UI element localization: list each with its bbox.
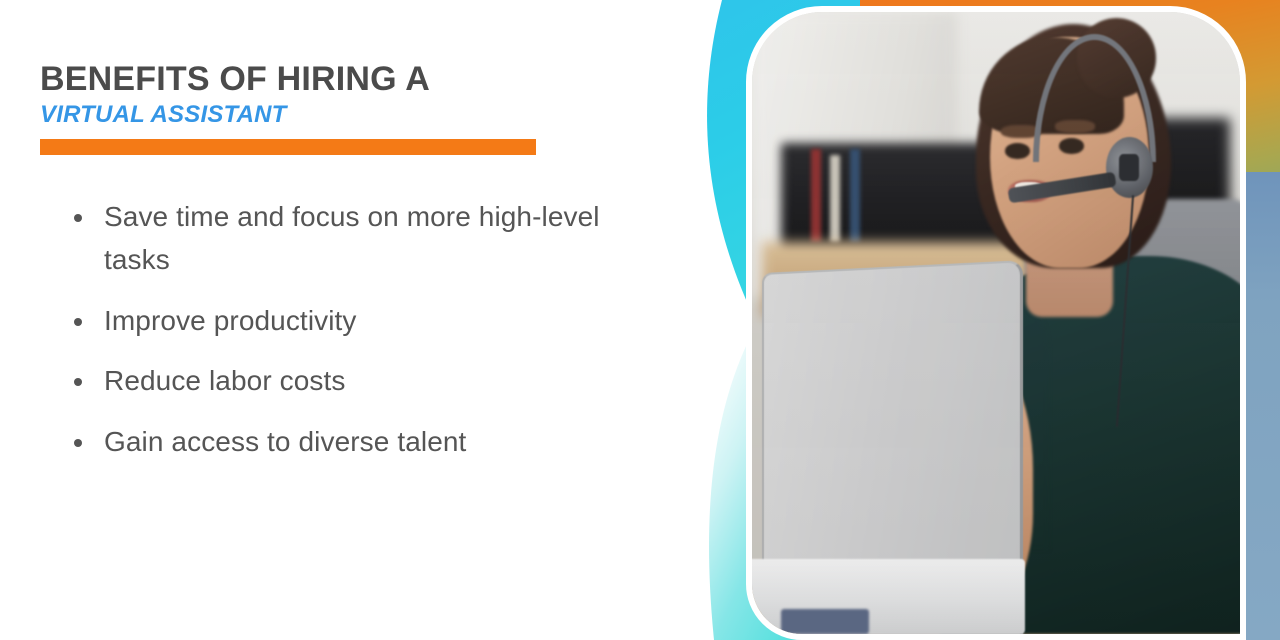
heading-block: BENEFITS OF HIRING A VIRTUAL ASSISTANT xyxy=(40,60,600,130)
photo-book xyxy=(850,149,860,242)
hero-photo-frame xyxy=(746,6,1246,640)
list-item: Reduce labor costs xyxy=(62,360,662,403)
slide-canvas: BENEFITS OF HIRING A VIRTUAL ASSISTANT S… xyxy=(0,0,1280,640)
photo-book xyxy=(811,149,821,242)
orange-accent-bar xyxy=(40,139,536,155)
list-item: Improve productivity xyxy=(62,300,662,343)
photo-person-eye xyxy=(1005,143,1030,159)
list-item: Save time and focus on more high-level t… xyxy=(62,196,662,282)
photo-book xyxy=(830,155,840,242)
list-item: Gain access to diverse talent xyxy=(62,421,662,464)
right-graphic-stage xyxy=(660,0,1280,640)
page-subtitle: VIRTUAL ASSISTANT xyxy=(40,100,600,130)
hero-photo xyxy=(752,12,1240,634)
photo-laptop-foot xyxy=(781,609,869,634)
page-title: BENEFITS OF HIRING A xyxy=(40,60,600,98)
benefits-list: Save time and focus on more high-level t… xyxy=(62,196,662,482)
headset-earcup xyxy=(1106,137,1153,198)
text-panel: BENEFITS OF HIRING A VIRTUAL ASSISTANT S… xyxy=(0,0,680,640)
